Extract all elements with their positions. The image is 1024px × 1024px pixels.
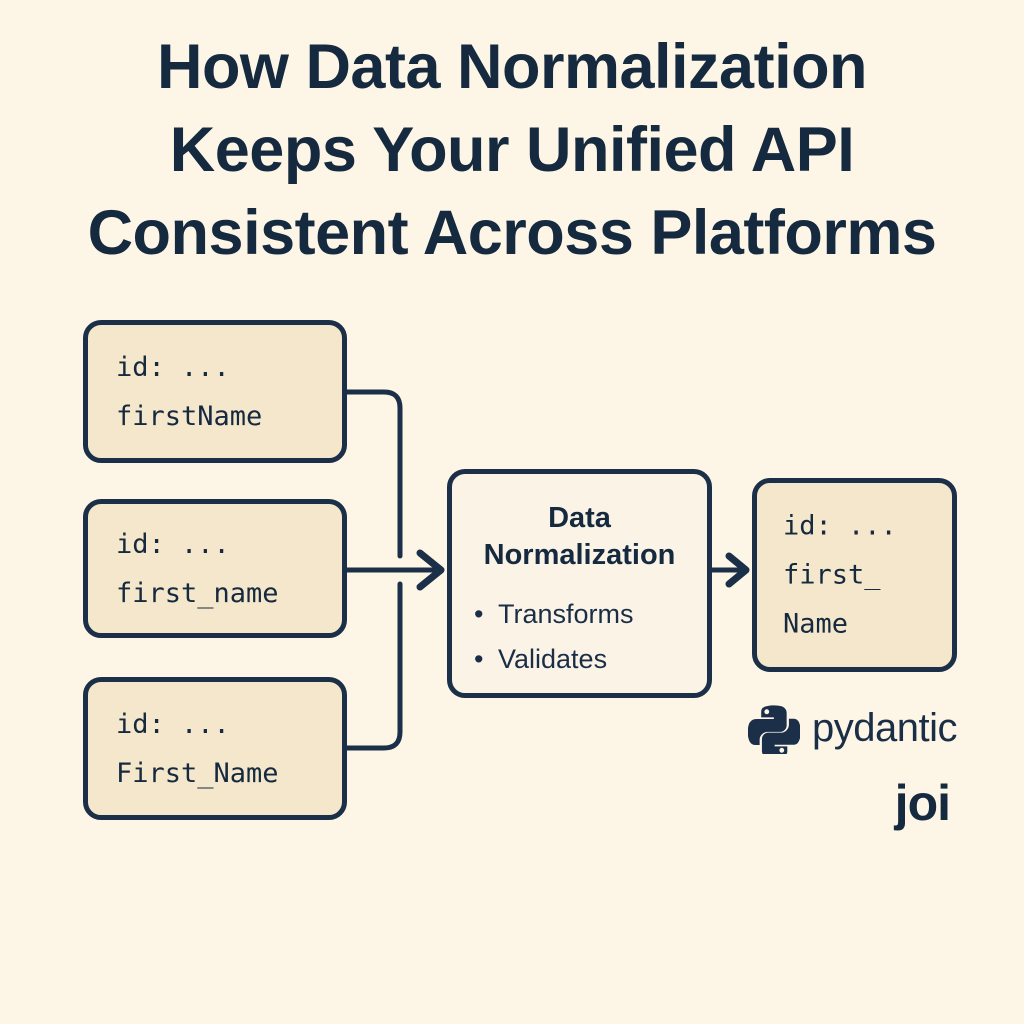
field-name-line: firstName: [116, 392, 262, 441]
output-box-normalized[interactable]: id: ... first_ Name: [752, 478, 957, 672]
field-id-line: id: ...: [116, 343, 262, 392]
field-name-line: first_name: [116, 569, 279, 618]
input-box-snake-case-text: id: ... first_name: [116, 520, 279, 618]
field-name-line-2: Name: [783, 600, 897, 649]
pydantic-label: pydantic: [812, 708, 957, 748]
field-id-line: id: ...: [783, 502, 897, 551]
output-box-text: id: ... first_ Name: [783, 502, 897, 649]
data-normalization-bullet-list: Transforms Validates: [474, 592, 634, 682]
title-word-data: Data: [452, 500, 707, 537]
field-id-line: id: ...: [116, 700, 279, 749]
bullet-validates: Validates: [474, 637, 634, 682]
input-box-pascal-snake-case[interactable]: id: ... First_Name: [83, 677, 347, 820]
input-box-pascal-snake-case-text: id: ... First_Name: [116, 700, 279, 798]
data-normalization-box[interactable]: Data Normalization Transforms Validates: [447, 469, 712, 698]
title-line-2: Keeps Your Unified API: [0, 109, 1024, 192]
bullet-transforms: Transforms: [474, 592, 634, 637]
field-name-line: First_Name: [116, 749, 279, 798]
infographic-canvas: How Data Normalization Keeps Your Unifie…: [0, 0, 1024, 1024]
field-name-line-1: first_: [783, 551, 897, 600]
field-id-line: id: ...: [116, 520, 279, 569]
data-normalization-title: Data Normalization: [452, 500, 707, 574]
title-line-1: How Data Normalization: [0, 26, 1024, 109]
title-word-normalization: Normalization: [452, 537, 707, 574]
input-box-camel-case[interactable]: id: ... firstName: [83, 320, 347, 463]
input-box-snake-case[interactable]: id: ... first_name: [83, 499, 347, 638]
input-box-camel-case-text: id: ... firstName: [116, 343, 262, 441]
title-line-3: Consistent Across Platforms: [0, 192, 1024, 275]
pydantic-logo: pydantic: [748, 702, 957, 754]
python-snake-icon: [748, 702, 800, 754]
joi-label: joi: [700, 775, 950, 831]
page-title: How Data Normalization Keeps Your Unifie…: [0, 26, 1024, 275]
